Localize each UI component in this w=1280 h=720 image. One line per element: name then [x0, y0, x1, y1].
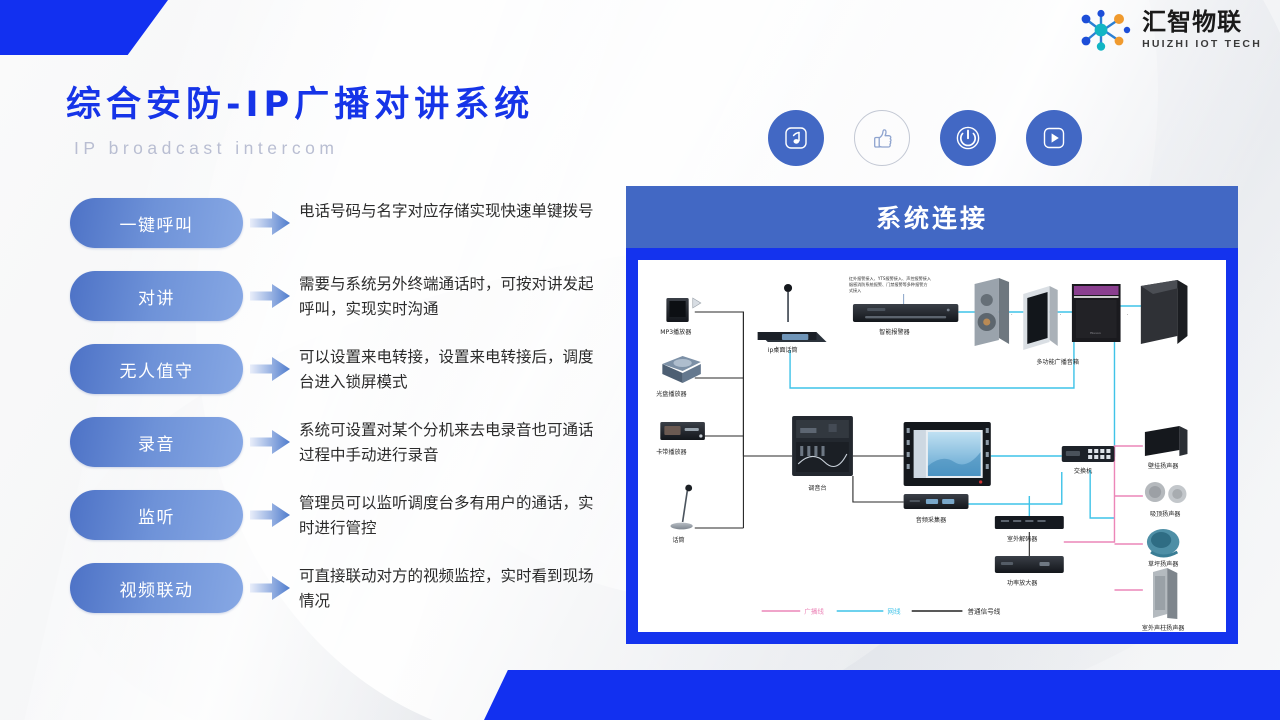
- feature-item: 无人值守 可以设置来电转接，设置来电转接后，调度台进入锁屏模式: [70, 344, 595, 417]
- device-outdoor-column-speaker: 室外声柱扬声器: [1142, 568, 1185, 632]
- svg-text:·: ·: [1127, 312, 1129, 318]
- feature-desc-4: 管理员可以监听调度台多有用户的通话，实时进行管控: [299, 490, 595, 541]
- music-note-icon-button[interactable]: [768, 110, 824, 166]
- svg-text:交换机: 交换机: [1074, 467, 1092, 475]
- svg-text:室外解码器: 室外解码器: [1007, 535, 1037, 543]
- thumbs-up-icon: [868, 124, 896, 152]
- feature-icon-row: [768, 110, 1082, 166]
- svg-text:ip桌面话筒: ip桌面话筒: [768, 346, 798, 354]
- svg-text:多功能广播音箱: 多功能广播音箱: [1036, 358, 1079, 366]
- feature-item: 对讲 需要与系统另外终端通话时，可按对讲发起呼叫，实现实时沟通: [70, 271, 595, 344]
- arrow-right-icon: [243, 198, 299, 248]
- arrow-right-icon: [243, 417, 299, 467]
- arrow-right-icon: [243, 490, 299, 540]
- svg-text:Hiuvon: Hiuvon: [1090, 331, 1101, 335]
- brand-name-cn: 汇智物联: [1142, 10, 1262, 34]
- feature-pill-0[interactable]: 一键呼叫: [70, 198, 243, 248]
- feature-pill-5[interactable]: 视频联动: [70, 563, 243, 613]
- svg-text:壁挂扬声器: 壁挂扬声器: [1148, 462, 1178, 470]
- feature-pill-1[interactable]: 对讲: [70, 271, 243, 321]
- svg-text:草坪扬声器: 草坪扬声器: [1148, 560, 1178, 568]
- svg-text:烟感消防系统报警、门禁报警等多种报警方: 烟感消防系统报警、门禁报警等多种报警方: [849, 281, 928, 287]
- device-mp3-player: MP3播放器: [660, 298, 701, 336]
- power-icon: [953, 123, 983, 153]
- device-smart-alarm: 智能报警器: [853, 304, 958, 336]
- feature-item: 录音 系统可设置对某个分机来去电录音也可通话过程中手动进行录音: [70, 417, 595, 490]
- feature-desc-5: 可直接联动对方的视频监控，实时看到现场情况: [299, 563, 595, 614]
- svg-text:光盘播放器: 光盘播放器: [656, 390, 686, 398]
- brand-logo: 汇智物联 HUIZHI IOT TECH: [1075, 8, 1262, 52]
- music-note-icon: [783, 125, 809, 151]
- arrow-right-icon: [243, 563, 299, 613]
- device-ceiling-speaker: 吸顶扬声器: [1145, 482, 1187, 518]
- svg-text:吸顶扬声器: 吸顶扬声器: [1150, 510, 1180, 518]
- feature-item: 监听 管理员可以监听调度台多有用户的通话，实时进行管控: [70, 490, 595, 563]
- svg-text:MP3播放器: MP3播放器: [660, 328, 691, 336]
- panel-frame: 红外报警接入、YTS报警接入、声控报警接入 烟感消防系统报警、门禁报警等多种报警…: [626, 248, 1238, 644]
- play-icon-button[interactable]: [1026, 110, 1082, 166]
- device-ip-desktop-mic: ip桌面话筒: [758, 284, 827, 354]
- svg-text:智能报警器: 智能报警器: [879, 328, 909, 336]
- feature-item: 一键呼叫 电话号码与名字对应存储实现快速单键拨号: [70, 198, 595, 271]
- bottom-right-accent-shape: [484, 670, 1280, 720]
- power-icon-button[interactable]: [940, 110, 996, 166]
- device-outdoor-decoder: 室外解码器: [995, 516, 1064, 543]
- feature-item: 视频联动 可直接联动对方的视频监控，实时看到现场情况: [70, 563, 595, 636]
- device-multifunction-broadcast-speaker: ·: [975, 278, 1014, 346]
- svg-text:网线: 网线: [887, 607, 901, 616]
- svg-text:普通信号线: 普通信号线: [967, 607, 1000, 616]
- page-title: 综合安防-IP广播对讲系统: [66, 76, 534, 127]
- device-broadcast-server: 广播控服务器: [904, 422, 991, 502]
- svg-text:红外报警接入、YTS报警接入、声控报警接入: 红外报警接入、YTS报警接入、声控报警接入: [849, 275, 931, 281]
- device-wall-mounted-speaker: 壁挂扬声器: [1145, 426, 1188, 470]
- diagram-legend: 广播线 网线 普通信号线: [762, 607, 1001, 616]
- svg-text:音频采集器: 音频采集器: [916, 516, 946, 524]
- feature-desc-2: 可以设置来电转接，设置来电转接后，调度台进入锁屏模式: [299, 344, 595, 395]
- play-icon: [1041, 125, 1067, 151]
- feature-pill-2[interactable]: 无人值守: [70, 344, 243, 394]
- svg-text:广播线: 广播线: [804, 607, 824, 616]
- feature-desc-1: 需要与系统另外终端通话时，可按对讲发起呼叫，实现实时沟通: [299, 271, 595, 322]
- device-mixer-console: 调音台: [792, 416, 853, 492]
- molecule-nodes-icon: [1075, 8, 1133, 52]
- feature-pill-4[interactable]: 监听: [70, 490, 243, 540]
- system-diagram: 红外报警接入、YTS报警接入、声控报警接入 烟感消防系统报警、门禁报警等多种报警…: [638, 260, 1226, 632]
- system-connection-panel: 系统连接: [626, 186, 1238, 644]
- svg-text:室外声柱扬声器: 室外声柱扬声器: [1142, 624, 1185, 632]
- svg-text:话筒: 话筒: [672, 536, 684, 544]
- feature-pill-3[interactable]: 录音: [70, 417, 243, 467]
- svg-text:卡带播放器: 卡带播放器: [656, 448, 686, 456]
- feature-list: 一键呼叫 电话号码与名字对应存储实现快速单键拨号 对讲 需要与系统另外终端通话时…: [70, 198, 595, 636]
- device-microphone: 话筒: [670, 485, 692, 544]
- arrow-right-icon: [243, 271, 299, 321]
- feature-desc-0: 电话号码与名字对应存储实现快速单键拨号: [299, 198, 594, 224]
- panel-title: 系统连接: [876, 199, 988, 235]
- device-power-amplifier: 功率放大器: [995, 556, 1064, 587]
- system-diagram-svg: 红外报警接入、YTS报警接入、声控报警接入 烟感消防系统报警、门禁报警等多种报警…: [638, 260, 1226, 632]
- svg-text:功率放大器: 功率放大器: [1007, 579, 1037, 587]
- panel-header: 系统连接: [626, 186, 1238, 248]
- device-network-switch: 交换机: [1062, 446, 1115, 475]
- svg-text:式接入: 式接入: [849, 287, 861, 293]
- device-audio-collector: 音频采集器: [904, 494, 969, 524]
- thumbs-up-icon-button[interactable]: [854, 110, 910, 166]
- svg-text:调音台: 调音台: [808, 484, 826, 492]
- brand-name-en: HUIZHI IOT TECH: [1142, 39, 1262, 50]
- page-subtitle: IP broadcast intercom: [74, 138, 534, 159]
- page-title-block: 综合安防-IP广播对讲系统 IP broadcast intercom: [66, 76, 534, 159]
- svg-text:·: ·: [1060, 312, 1062, 318]
- feature-desc-3: 系统可设置对某个分机来去电录音也可通话过程中手动进行录音: [299, 417, 595, 468]
- svg-text:·: ·: [1011, 312, 1013, 318]
- device-cassette-player: 卡带播放器: [656, 422, 705, 456]
- device-lawn-speaker: 草坪扬声器: [1147, 529, 1179, 568]
- arrow-right-icon: [243, 344, 299, 394]
- device-cd-player: 光盘播放器: [656, 356, 701, 398]
